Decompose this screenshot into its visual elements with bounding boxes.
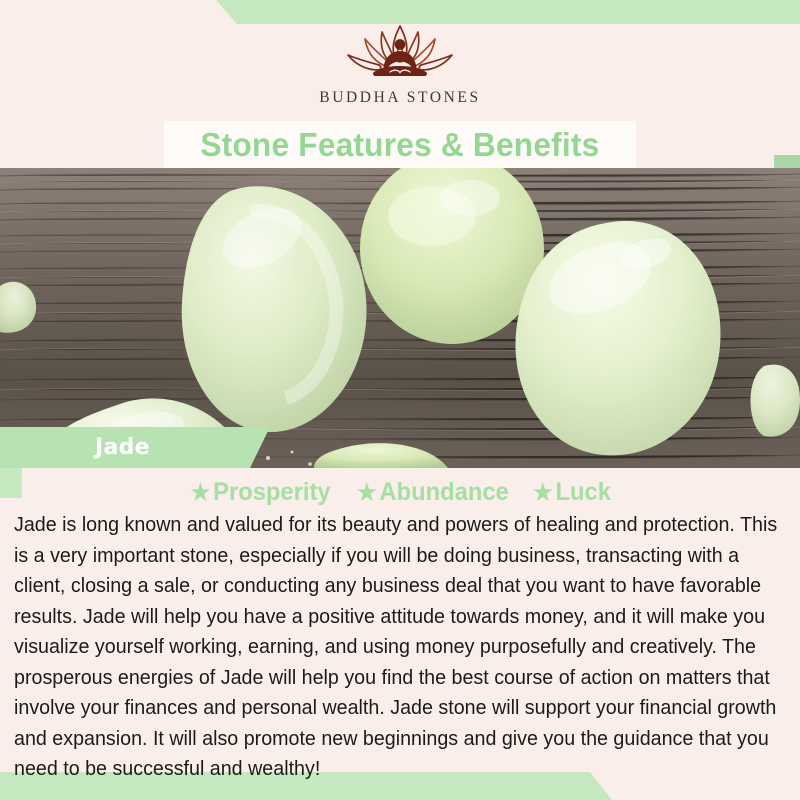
jade-stones-image [0, 168, 800, 468]
description-text: Jade is long known and valued for its be… [14, 510, 786, 785]
star-icon: ★ [357, 479, 377, 505]
benefit-label: Abundance [379, 478, 508, 506]
benefits-row: ★Prosperity ★Abundance ★Luck [0, 478, 800, 507]
brand-logo: BUDDHA STONES [0, 22, 800, 107]
description-block: Jade is long known and valued for its be… [14, 510, 786, 785]
stone-name: Jade [95, 435, 150, 460]
lotus-meditation-icon [325, 22, 475, 84]
benefit-label: Luck [555, 478, 610, 506]
star-icon: ★ [533, 479, 553, 505]
benefit-item: ★Abundance [357, 478, 509, 507]
infographic-card: BUDDHA STONES Stone Features & Benefits [0, 0, 800, 800]
benefit-label: Prosperity [213, 478, 330, 506]
stone-photo [0, 168, 800, 468]
benefit-item: ★Luck [533, 478, 611, 507]
benefit-item: ★Prosperity [191, 478, 331, 507]
stone-name-banner: Jade [0, 427, 270, 468]
brand-name: BUDDHA STONES [0, 89, 800, 107]
star-icon: ★ [191, 479, 211, 505]
title-banner: Stone Features & Benefits [164, 121, 636, 168]
page-title: Stone Features & Benefits [200, 128, 599, 161]
